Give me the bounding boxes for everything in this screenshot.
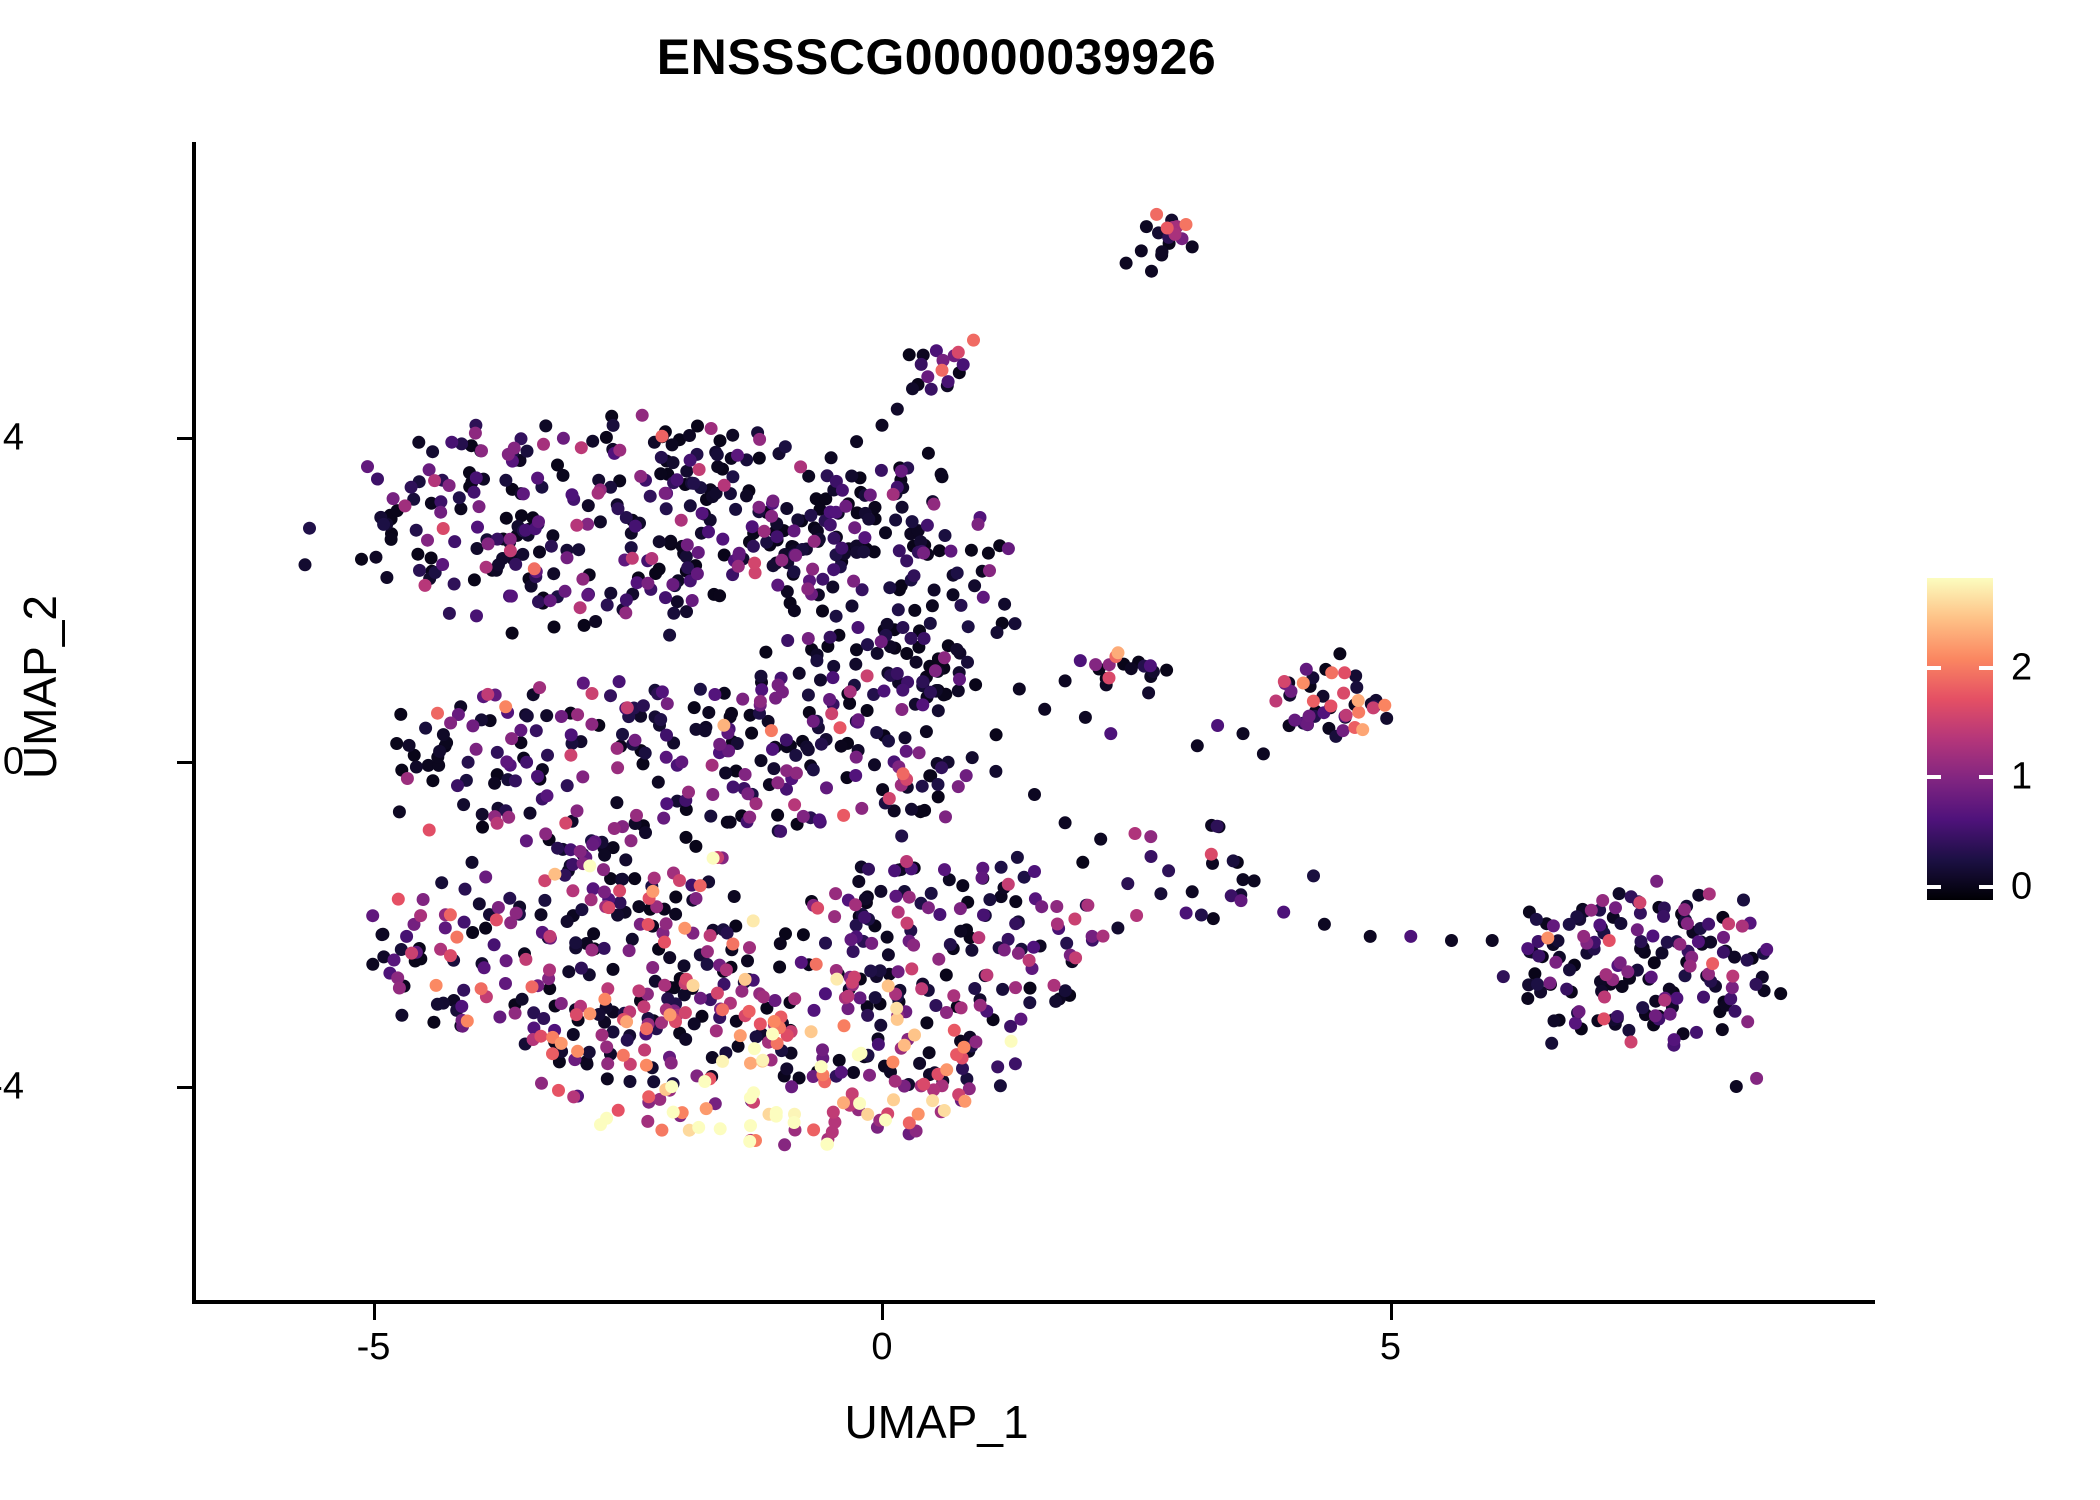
scatter-point <box>1380 712 1393 725</box>
scatter-point <box>616 728 629 741</box>
colorbar-gradient <box>1927 578 1993 900</box>
scatter-point <box>1235 894 1248 907</box>
scatter-point <box>414 909 427 922</box>
scatter-point <box>619 853 632 866</box>
scatter-point <box>657 812 670 825</box>
scatter-point <box>940 969 953 982</box>
scatter-point <box>654 713 667 726</box>
scatter-point <box>581 1058 594 1071</box>
scatter-point <box>403 739 416 752</box>
scatter-point <box>739 973 752 986</box>
scatter-point <box>1352 706 1365 719</box>
scatter-point <box>980 969 993 982</box>
scatter-point <box>663 951 676 964</box>
scatter-point <box>694 879 707 892</box>
scatter-point <box>1024 982 1037 995</box>
scatter-point <box>585 944 598 957</box>
scatter-point <box>896 621 909 634</box>
scatter-point <box>1750 978 1763 991</box>
scatter-point <box>1300 663 1313 676</box>
scatter-point <box>575 441 588 454</box>
scatter-point <box>445 436 458 449</box>
scatter-point <box>1162 864 1175 877</box>
scatter-point <box>899 731 912 744</box>
scatter-point <box>666 438 679 451</box>
scatter-point <box>614 896 627 909</box>
scatter-point <box>1631 923 1644 936</box>
scatter-point <box>982 547 995 560</box>
scatter-point <box>1684 960 1697 973</box>
scatter-point <box>481 688 494 701</box>
scatter-point <box>491 746 504 759</box>
scatter-point <box>972 518 985 531</box>
scatter-point <box>1741 954 1754 967</box>
scatter-point <box>850 435 863 448</box>
scatter-point <box>428 474 441 487</box>
scatter-point <box>846 600 859 613</box>
scatter-point <box>516 993 529 1006</box>
scatter-point <box>852 875 865 888</box>
scatter-point <box>658 979 671 992</box>
scatter-point <box>928 584 941 597</box>
page-title: ENSSSCG00000039926 <box>0 28 1873 86</box>
scatter-point <box>731 449 744 462</box>
scatter-point <box>419 579 432 592</box>
scatter-point <box>705 422 718 435</box>
scatter-point <box>1378 699 1391 712</box>
scatter-point <box>475 444 488 457</box>
scatter-point <box>816 573 829 586</box>
scatter-point <box>802 743 815 756</box>
scatter-point <box>780 502 793 515</box>
scatter-point <box>654 467 667 480</box>
scatter-point <box>864 965 877 978</box>
scatter-point <box>954 925 967 938</box>
scatter-point <box>1613 887 1626 900</box>
scatter-point <box>667 1106 680 1119</box>
scatter-point <box>1211 820 1224 833</box>
scatter-point <box>889 890 902 903</box>
scatter-point <box>769 994 782 1007</box>
scatter-point <box>711 448 724 461</box>
scatter-point <box>576 770 589 783</box>
scatter-point <box>706 759 719 772</box>
scatter-point <box>582 499 595 512</box>
scatter-point <box>567 1028 580 1041</box>
scatter-point <box>509 558 522 571</box>
scatter-point <box>1059 984 1072 997</box>
scatter-point <box>1028 788 1041 801</box>
scatter-point <box>616 873 629 886</box>
scatter-point <box>967 334 980 347</box>
scatter-point <box>1297 677 1310 690</box>
scatter-point <box>471 521 484 534</box>
scatter-point <box>905 632 918 645</box>
scatter-point <box>766 1028 779 1041</box>
scatter-point <box>983 893 996 906</box>
scatter-point <box>1717 931 1730 944</box>
scatter-point <box>1729 1005 1742 1018</box>
scatter-point <box>1544 977 1557 990</box>
scatter-point <box>646 885 659 898</box>
scatter-point <box>807 1123 820 1136</box>
scatter-point <box>847 1066 860 1079</box>
scatter-point <box>533 681 546 694</box>
scatter-point <box>744 1057 757 1070</box>
scatter-point <box>1140 220 1153 233</box>
scatter-point <box>701 958 714 971</box>
scatter-point <box>1048 979 1061 992</box>
scatter-point <box>629 734 642 747</box>
scatter-point <box>532 595 545 608</box>
scatter-point <box>774 937 787 950</box>
scatter-point <box>535 908 548 921</box>
scatter-point <box>788 524 801 537</box>
scatter-point <box>1111 922 1124 935</box>
scatter-point <box>969 678 982 691</box>
scatter-point <box>594 1118 607 1131</box>
scatter-point <box>927 498 940 511</box>
scatter-point <box>655 451 668 464</box>
scatter-point <box>872 1038 885 1051</box>
scatter-point <box>915 982 928 995</box>
x-axis-line <box>192 1300 1875 1304</box>
scatter-point <box>883 792 896 805</box>
scatter-point <box>883 581 896 594</box>
colorbar-tick-mark <box>1927 885 1941 889</box>
scatter-point <box>1545 1037 1558 1050</box>
scatter-point <box>1621 965 1634 978</box>
scatter-point <box>951 567 964 580</box>
scatter-point <box>504 544 517 557</box>
scatter-point <box>366 958 379 971</box>
scatter-point <box>1724 992 1737 1005</box>
scatter-point <box>713 738 726 751</box>
scatter-point <box>1673 938 1686 951</box>
scatter-point <box>574 845 587 858</box>
scatter-point <box>688 701 701 714</box>
scatter-point <box>824 518 837 531</box>
scatter-point <box>740 489 753 502</box>
scatter-point <box>1012 947 1025 960</box>
scatter-point <box>952 684 965 697</box>
scatter-point <box>1728 951 1741 964</box>
scatter-point <box>1722 917 1735 930</box>
scatter-point <box>908 604 921 617</box>
scatter-point <box>598 886 611 899</box>
colorbar-tick-label: 1 <box>2011 756 2032 799</box>
scatter-point <box>721 927 734 940</box>
scatter-point <box>471 542 484 555</box>
scatter-point <box>924 686 937 699</box>
scatter-point <box>991 1060 1004 1073</box>
scatter-point <box>788 1116 801 1129</box>
scatter-point <box>419 722 432 735</box>
scatter-point <box>425 552 438 565</box>
scatter-point <box>741 954 754 967</box>
scatter-point <box>479 871 492 884</box>
scatter-point <box>528 562 541 575</box>
scatter-point <box>1009 917 1022 930</box>
scatter-point <box>765 724 778 737</box>
scatter-point <box>561 915 574 928</box>
scatter-point <box>768 1015 781 1028</box>
scatter-point <box>473 897 486 910</box>
scatter-point <box>1664 1008 1677 1021</box>
scatter-point <box>598 993 611 1006</box>
scatter-point <box>504 533 517 546</box>
scatter-point <box>431 707 444 720</box>
scatter-point <box>470 743 483 756</box>
scatter-point <box>557 432 570 445</box>
scatter-point <box>835 1066 848 1079</box>
scatter-point <box>837 1096 850 1109</box>
scatter-point <box>634 470 647 483</box>
scatter-point <box>1068 913 1081 926</box>
scatter-point <box>958 1095 971 1108</box>
scatter-point <box>916 780 929 793</box>
scatter-point <box>628 872 641 885</box>
scatter-point <box>1445 934 1458 947</box>
scatter-point <box>1180 218 1193 231</box>
scatter-point <box>694 683 707 696</box>
scatter-point <box>1125 662 1138 675</box>
scatter-point <box>716 533 729 546</box>
scatter-point <box>998 944 1011 957</box>
scatter-point <box>1009 895 1022 908</box>
scatter-point <box>1161 222 1174 235</box>
scatter-point <box>417 893 430 906</box>
scatter-point <box>1023 996 1036 1009</box>
scatter-point <box>443 607 456 620</box>
scatter-point <box>520 834 533 847</box>
scatter-point <box>639 747 652 760</box>
scatter-point <box>1356 723 1369 736</box>
scatter-point <box>1069 951 1082 964</box>
scatter-point <box>753 433 766 446</box>
scatter-point <box>1135 244 1148 257</box>
scatter-point <box>1596 894 1609 907</box>
scatter-point <box>952 780 965 793</box>
scatter-point <box>392 893 405 906</box>
scatter-point <box>667 456 680 469</box>
scatter-point <box>989 765 1002 778</box>
scatter-point <box>863 1069 876 1082</box>
scatter-point <box>517 487 530 500</box>
scatter-point <box>395 1009 408 1022</box>
scatter-point <box>991 626 1004 639</box>
scatter-point <box>900 855 913 868</box>
scatter-point <box>1049 995 1062 1008</box>
scatter-point <box>581 589 594 602</box>
scatter-point <box>583 1007 596 1020</box>
scatter-point <box>455 1000 468 1013</box>
scatter-point <box>412 436 425 449</box>
scatter-point <box>932 778 945 791</box>
scatter-point <box>681 538 694 551</box>
scatter-point <box>836 484 849 497</box>
scatter-point <box>444 949 457 962</box>
scatter-point <box>680 605 693 618</box>
scatter-point <box>939 810 952 823</box>
scatter-point <box>607 1026 620 1039</box>
scatter-point <box>726 938 739 951</box>
scatter-point <box>639 826 652 839</box>
scatter-point <box>691 567 704 580</box>
scatter-point <box>698 1075 711 1088</box>
scatter-point <box>857 545 870 558</box>
scatter-point <box>1059 816 1072 829</box>
scatter-point <box>586 687 599 700</box>
scatter-point <box>617 1049 630 1062</box>
scatter-point <box>847 575 860 588</box>
scatter-point <box>575 903 588 916</box>
scatter-point <box>461 1015 474 1028</box>
scatter-point <box>530 724 543 737</box>
scatter-point <box>1028 865 1041 878</box>
scatter-point <box>808 1004 821 1017</box>
scatter-point <box>1532 950 1545 963</box>
x-tick-label: 5 <box>1380 1326 1401 1369</box>
scatter-point <box>788 565 801 578</box>
scatter-point <box>370 551 383 564</box>
scatter-point <box>658 936 671 949</box>
scatter-point <box>577 677 590 690</box>
scatter-point <box>1635 935 1648 948</box>
scatter-point <box>1774 987 1787 1000</box>
scatter-point <box>476 808 489 821</box>
scatter-point <box>755 683 768 696</box>
scatter-point <box>385 533 398 546</box>
scatter-point <box>733 547 746 560</box>
scatter-point <box>1549 956 1562 969</box>
scatter-point <box>865 937 878 950</box>
scatter-point <box>1704 936 1717 949</box>
scatter-point <box>1706 957 1719 970</box>
scatter-point <box>675 756 688 769</box>
scatter-point <box>947 588 960 601</box>
scatter-point <box>534 1030 547 1043</box>
scatter-point <box>694 992 707 1005</box>
scatter-point <box>458 916 471 929</box>
scatter-point <box>720 963 733 976</box>
scatter-point <box>1207 912 1220 925</box>
scatter-point <box>1150 208 1163 221</box>
scatter-point <box>613 444 626 457</box>
scatter-point <box>1486 934 1499 947</box>
scatter-point <box>940 1006 953 1019</box>
scatter-point <box>968 982 981 995</box>
scatter-point <box>734 1029 747 1042</box>
scatter-point <box>1257 747 1270 760</box>
scatter-point <box>933 908 946 921</box>
scatter-point <box>896 501 909 514</box>
scatter-point <box>620 1015 633 1028</box>
scatter-point <box>443 479 456 492</box>
scatter-point <box>701 945 714 958</box>
scatter-point <box>598 942 611 955</box>
scatter-point <box>794 460 807 473</box>
scatter-point <box>620 593 633 606</box>
scatter-point <box>637 757 650 770</box>
scatter-point <box>444 908 457 921</box>
scatter-point <box>804 509 817 522</box>
scatter-point <box>1002 878 1015 891</box>
scatter-point <box>1760 943 1773 956</box>
scatter-point <box>388 954 401 967</box>
scatter-point <box>1089 658 1102 671</box>
scatter-point <box>611 761 624 774</box>
scatter-point <box>926 599 939 612</box>
scatter-point <box>813 813 826 826</box>
scatter-point <box>869 991 882 1004</box>
y-axis-title: UMAP_2 <box>13 337 67 1037</box>
scatter-point <box>890 1002 903 1015</box>
scatter-point <box>1598 991 1611 1004</box>
scatter-point <box>434 506 447 519</box>
scatter-point <box>1027 941 1040 954</box>
scatter-point <box>938 1104 951 1117</box>
scatter-point <box>1307 695 1320 708</box>
scatter-point <box>589 615 602 628</box>
scatter-point <box>551 842 564 855</box>
scatter-point <box>586 838 599 851</box>
scatter-point <box>1104 727 1117 740</box>
scatter-point <box>960 769 973 782</box>
scatter-point <box>544 594 557 607</box>
scatter-point <box>1690 1026 1703 1039</box>
scatter-point <box>773 961 786 974</box>
scatter-point <box>887 1093 900 1106</box>
scatter-points-layer <box>194 142 1873 1302</box>
scatter-point <box>888 864 901 877</box>
scatter-point <box>1521 992 1534 1005</box>
scatter-point <box>506 627 519 640</box>
scatter-point <box>807 763 820 776</box>
scatter-point <box>923 1046 936 1059</box>
scatter-point <box>1547 919 1560 932</box>
scatter-point <box>1726 981 1739 994</box>
scatter-point <box>380 571 393 584</box>
scatter-point <box>1650 875 1663 888</box>
scatter-point <box>690 723 703 736</box>
scatter-point <box>790 767 803 780</box>
scatter-point <box>675 514 688 527</box>
scatter-point <box>466 926 479 939</box>
scatter-point <box>602 901 615 914</box>
scatter-point <box>570 519 583 532</box>
scatter-point <box>940 1063 953 1076</box>
x-tick-label: -5 <box>357 1326 391 1369</box>
scatter-point <box>1697 991 1710 1004</box>
scatter-point <box>613 884 626 897</box>
scatter-point <box>466 856 479 869</box>
scatter-point <box>1649 1009 1662 1022</box>
scatter-point <box>1145 265 1158 278</box>
scatter-point <box>754 1018 767 1031</box>
scatter-point <box>604 689 617 702</box>
scatter-point <box>629 520 642 533</box>
scatter-point <box>1009 617 1022 630</box>
scatter-point <box>955 599 968 612</box>
scatter-point <box>785 1080 798 1093</box>
scatter-point <box>576 573 589 586</box>
scatter-point <box>739 768 752 781</box>
scatter-point <box>499 474 512 487</box>
scatter-point <box>954 902 967 915</box>
scatter-point <box>531 472 544 485</box>
scatter-point <box>895 465 908 478</box>
